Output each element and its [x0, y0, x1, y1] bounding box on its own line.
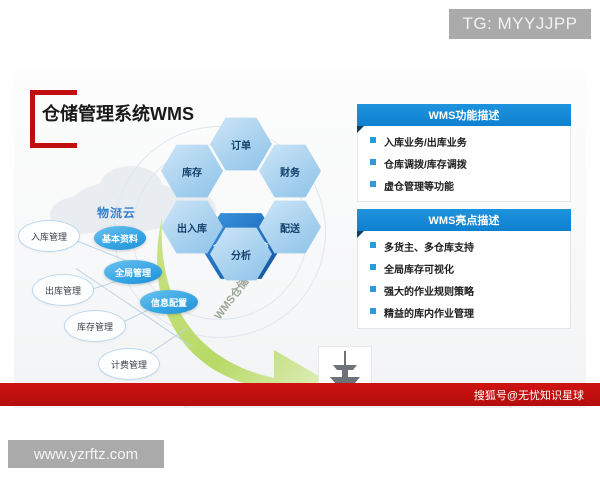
pill-info-config[interactable]: 信息配置 [140, 290, 198, 314]
function-item-3-label: 虚仓管理等功能 [384, 178, 454, 193]
hex-node-order[interactable]: 订单 [210, 116, 272, 172]
highlight-item-4-label: 精益的库内作业管理 [384, 305, 474, 320]
panel-title-highlights: WMS亮点描述 [357, 209, 571, 231]
bullet-square-icon [370, 308, 376, 314]
bullet-square-icon [370, 242, 376, 248]
bullet-square-icon [370, 286, 376, 292]
panel-body-highlights: 多货主、多仓库支持 全局库存可视化 强大的作业规则策略 精益的库内作业管理 [357, 231, 571, 329]
node-outbound-management[interactable]: 出库管理 [32, 274, 94, 306]
bullet-square-icon [370, 159, 376, 165]
node-inventory-management[interactable]: 库存管理 [64, 310, 126, 342]
function-item-3: 虚仓管理等功能 [368, 178, 564, 193]
panel-body-functions: 入库业务/出库业务 仓库调拨/库存调拨 虚仓管理等功能 [357, 126, 571, 202]
highlight-item-4: 精益的库内作业管理 [368, 305, 564, 320]
function-item-2-label: 仓库调拨/库存调拨 [384, 156, 467, 171]
panel-wms-functions: WMS功能描述 入库业务/出库业务 仓库调拨/库存调拨 虚仓管理等功能 [357, 104, 571, 202]
highlight-item-2: 全局库存可视化 [368, 261, 564, 276]
hex-node-finance[interactable]: 财务 [259, 143, 321, 199]
node-billing-management[interactable]: 计费管理 [98, 348, 160, 380]
highlight-item-2-label: 全局库存可视化 [384, 261, 454, 276]
panel-wms-highlights: WMS亮点描述 多货主、多仓库支持 全局库存可视化 强大的作业规则策略 精益的库… [357, 209, 571, 329]
function-item-2: 仓库调拨/库存调拨 [368, 156, 564, 171]
bullet-square-icon [370, 181, 376, 187]
function-item-1: 入库业务/出库业务 [368, 134, 564, 149]
panel-title-functions: WMS功能描述 [357, 104, 571, 126]
footer-watermark-text: 搜狐号@无忧知识星球 [474, 387, 584, 403]
highlight-item-3: 强大的作业规则策略 [368, 283, 564, 298]
function-item-1-label: 入库业务/出库业务 [384, 134, 467, 149]
highlight-item-3-label: 强大的作业规则策略 [384, 283, 474, 298]
bullet-square-icon [370, 264, 376, 270]
slide-card: 物流云 WMS仓储管理系统 仓储管理系统WMS [14, 68, 586, 408]
node-inbound-management[interactable]: 入库管理 [18, 220, 80, 252]
highlight-item-1-label: 多货主、多仓库支持 [384, 239, 474, 254]
url-banner: www.yzrftz.com [8, 440, 164, 468]
highlight-item-1: 多货主、多仓库支持 [368, 239, 564, 254]
pill-basic-data[interactable]: 基本资料 [94, 226, 146, 250]
tg-banner: TG: MYYJJPP [449, 9, 591, 39]
hex-node-stock[interactable]: 库存 [161, 143, 223, 199]
bullet-square-icon [370, 137, 376, 143]
pill-global-management[interactable]: 全局管理 [104, 260, 162, 284]
slide-screenshot: TG: MYYJJPP 物流云 WMS仓储管理系统 仓储管理系统WM [0, 0, 600, 480]
